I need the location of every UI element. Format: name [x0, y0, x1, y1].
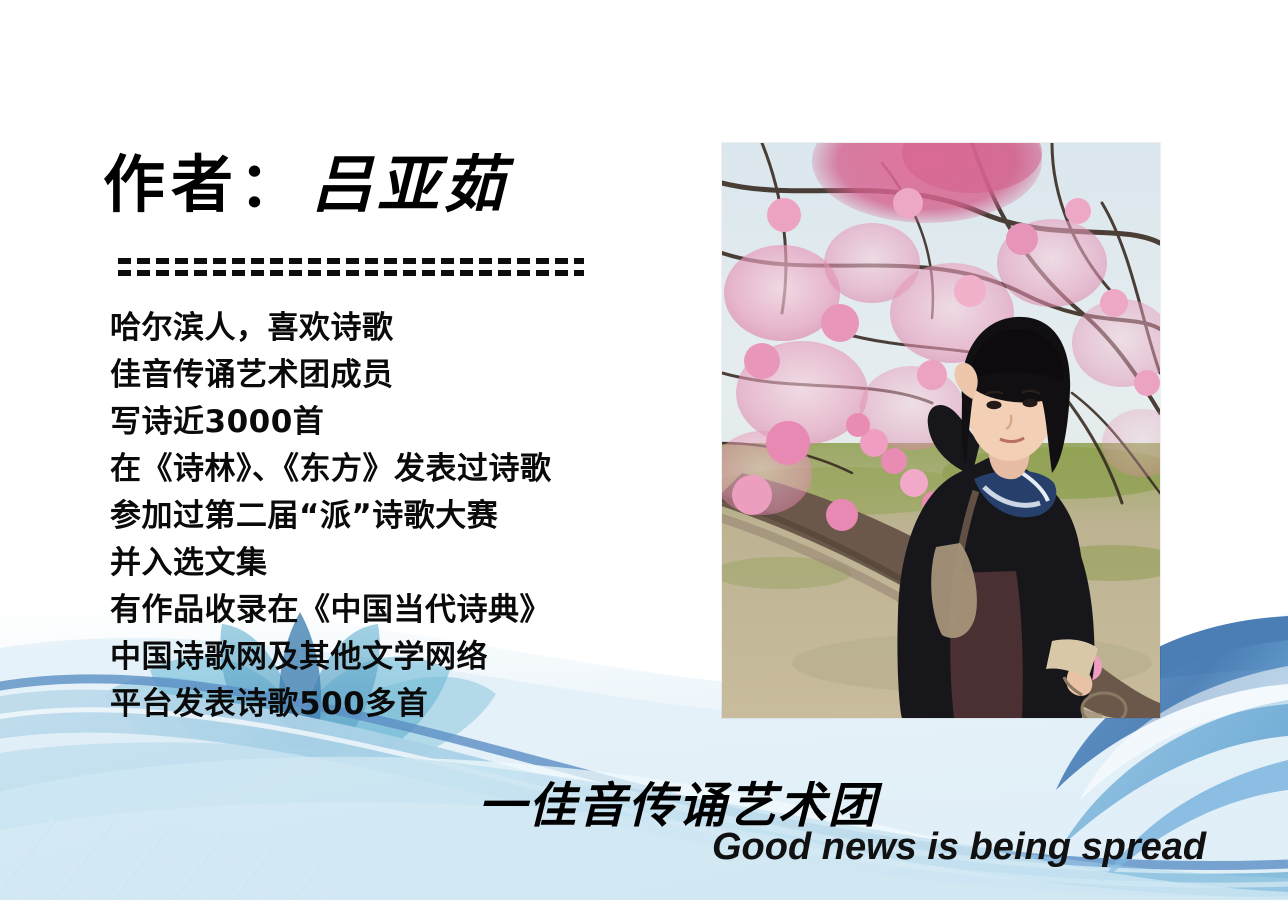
bio-text-block: 哈尔滨人，喜欢诗歌 佳音传诵艺术团成员 写诗近3000首 在《诗林》、《东方》发… [110, 305, 670, 728]
bio-line: 写诗近3000首 [110, 399, 670, 446]
author-photo-image [722, 143, 1160, 718]
bio-line: 有作品收录在《中国当代诗典》 [110, 587, 670, 634]
bio-line: 参加过第二届“派”诗歌大赛 [110, 493, 670, 540]
bio-line: 中国诗歌网及其他文学网络 [110, 634, 670, 681]
bio-line: 在《诗林》、《东方》发表过诗歌 [110, 446, 670, 493]
bio-line: 佳音传诵艺术团成员 [110, 352, 670, 399]
group-tagline: Good news is being spread [712, 826, 1206, 869]
divider-line-top [118, 258, 584, 264]
wave-ribbon-right-2 [1062, 700, 1288, 846]
author-label: 作者： [103, 148, 307, 221]
author-name: 吕亚茹 [311, 148, 509, 221]
page-title: 作者：吕亚茹 [103, 152, 703, 217]
pinstripe-band [0, 810, 420, 900]
slide-canvas: 作者：吕亚茹 哈尔滨人，喜欢诗歌 佳音传诵艺术团成员 写诗近3000首 在《诗林… [0, 0, 1288, 900]
bio-line: 哈尔滨人，喜欢诗歌 [110, 305, 670, 352]
bio-line: 平台发表诗歌500多首 [110, 681, 670, 728]
author-heading: 作者：吕亚茹 [103, 152, 703, 217]
divider [118, 258, 584, 280]
author-photo [722, 143, 1160, 718]
divider-line-bottom [118, 270, 584, 276]
bio-line: 并入选文集 [110, 540, 670, 587]
